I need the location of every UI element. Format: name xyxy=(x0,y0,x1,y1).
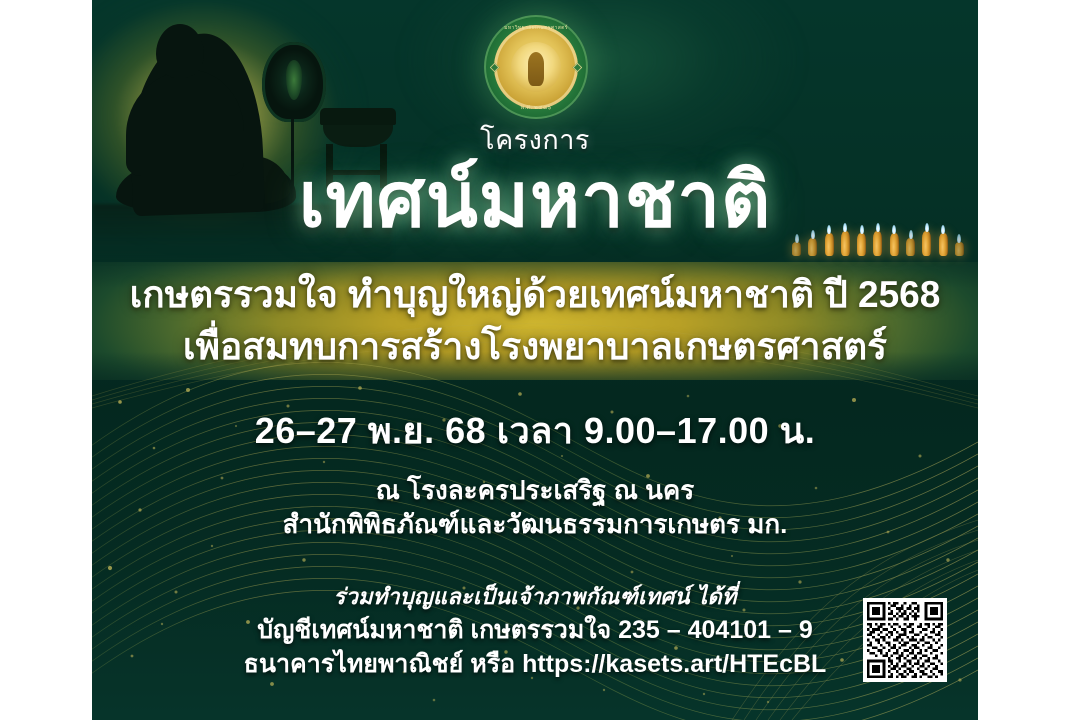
seal-text-top: มหาวิทยาลัยเกษตรศาสตร์ xyxy=(484,24,588,32)
poster-root: มหาวิทยาลัยเกษตรศาสตร์ พ.ศ. ๒๔๘๖ โครงการ… xyxy=(0,0,1080,720)
donation-bank: ธนาคารไทยพาณิชย์ หรือ https://kasets.art… xyxy=(92,651,978,677)
seal-deity-figure xyxy=(528,52,544,86)
fan-core xyxy=(286,60,302,100)
subtitle-line-2: เพื่อสมทบการสร้างโรงพยาบาลเกษตรศาสตร์ xyxy=(92,328,978,367)
kicker-label: โครงการ xyxy=(92,126,978,154)
qr-code-icon xyxy=(867,602,943,678)
candle xyxy=(792,242,801,256)
donation-lead: ร่วมทำบุญและเป็นเจ้าภาพกัณฑ์เทศน์ ได้ที่ xyxy=(92,585,978,608)
monk-head xyxy=(156,24,204,78)
kasetsart-university-seal-icon: มหาวิทยาลัยเกษตรศาสตร์ พ.ศ. ๒๔๘๖ xyxy=(484,15,588,119)
candle xyxy=(808,238,817,256)
subtitle-line-1: เกษตรรวมใจ ทำบุญใหญ่ด้วยเทศน์มหาชาติ ปี … xyxy=(92,276,978,315)
poster-canvas: มหาวิทยาลัยเกษตรศาสตร์ พ.ศ. ๒๔๘๖ โครงการ… xyxy=(92,0,978,720)
ceremonial-fan-icon xyxy=(262,42,326,122)
qr-code[interactable] xyxy=(863,598,947,682)
donation-account: บัญชีเทศน์มหาชาติ เกษตรรวมใจ 235 – 40410… xyxy=(92,617,978,643)
seal-text-bottom: พ.ศ. ๒๔๘๖ xyxy=(484,104,588,112)
seal-gold-ring xyxy=(494,25,578,109)
venue-line-1: ณ โรงละครประเสริฐ ณ นคร xyxy=(92,477,978,504)
seal-inner-disc xyxy=(511,42,561,92)
altar-top xyxy=(320,108,396,125)
page-title: เทศน์มหาชาติ xyxy=(92,160,978,240)
candle xyxy=(955,242,964,256)
event-datetime: 26–27 พ.ย. 68 เวลา 9.00–17.00 น. xyxy=(92,412,978,450)
venue-line-2: สำนักพิพิธภัณฑ์และวัฒนธรรมการเกษตร มก. xyxy=(92,511,978,538)
candle xyxy=(906,238,915,256)
